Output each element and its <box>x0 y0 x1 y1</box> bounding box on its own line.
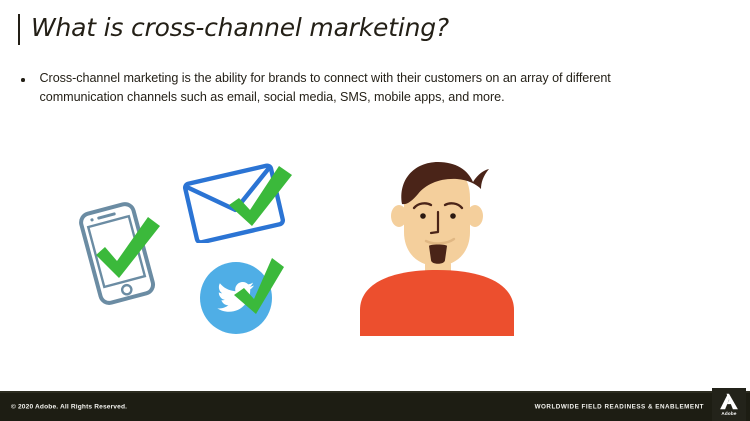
slide-canvas: What is cross-channel marketing? Cross-c… <box>0 0 750 421</box>
smartphone-icon <box>72 195 167 305</box>
adobe-wordmark: Adobe <box>721 411 736 416</box>
twitter-icon-svg <box>196 250 286 335</box>
twitter-icon <box>196 250 286 335</box>
person-illustration-svg <box>352 158 522 338</box>
smartphone-icon-svg <box>72 195 167 305</box>
bullet-dot-icon <box>21 78 25 82</box>
adobe-logo: Adobe <box>712 388 746 421</box>
footer-tagline: WORLDWIDE FIELD READINESS & ENABLEMENT <box>535 404 704 411</box>
person-illustration <box>352 158 522 338</box>
footer-copyright: © 2020 Adobe. All Rights Reserved. <box>11 404 127 411</box>
illustration-group <box>0 140 750 340</box>
email-envelope-icon-svg <box>182 158 297 243</box>
footer-bar: © 2020 Adobe. All Rights Reserved. WORLD… <box>0 393 750 421</box>
adobe-a-icon <box>719 393 739 410</box>
email-envelope-icon <box>182 158 297 243</box>
page-title: What is cross-channel marketing? <box>31 12 449 43</box>
page-title-row: What is cross-channel marketing? <box>18 12 449 52</box>
bullet-list-item: Cross-channel marketing is the ability f… <box>18 69 678 106</box>
title-rule-icon <box>18 14 20 45</box>
bullet-text: Cross-channel marketing is the ability f… <box>40 69 679 106</box>
